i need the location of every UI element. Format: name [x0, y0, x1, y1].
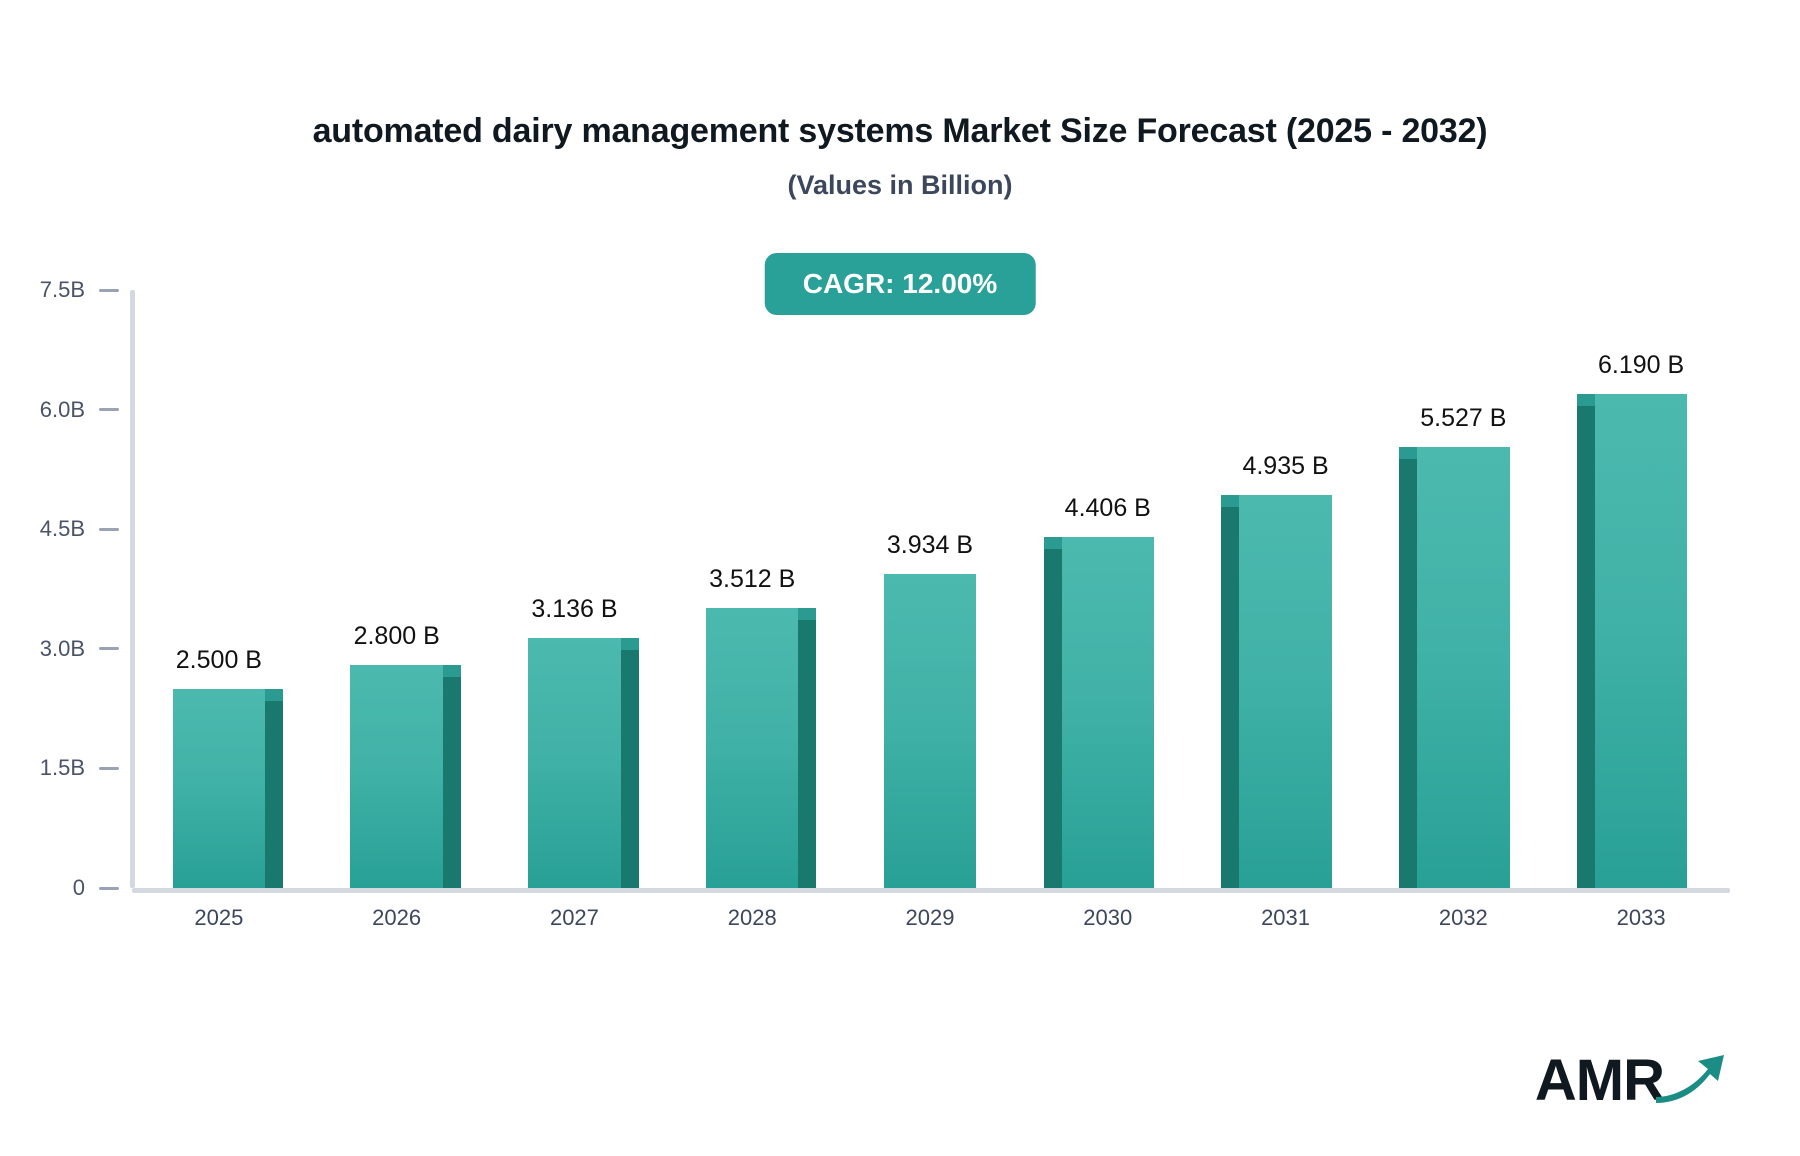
bar-side-face: [798, 618, 816, 888]
chart-canvas: automated dairy management systems Marke…: [0, 0, 1800, 1156]
y-axis-tick-mark: [99, 289, 119, 292]
bar-side-face: [443, 675, 461, 888]
bar-top-bevel: [1577, 394, 1595, 406]
bar-column[interactable]: 4.935 B: [1239, 290, 1331, 888]
y-axis-tick-mark: [99, 887, 119, 890]
bar-front-face: [706, 608, 798, 888]
bar-side-face: [265, 699, 283, 888]
x-axis-label-2032: 2032: [1374, 905, 1552, 931]
bar-value-label: 3.136 B: [531, 595, 617, 624]
bar-side-face: [621, 648, 639, 888]
y-axis-tick-label: 4.5B: [40, 516, 85, 542]
bar-front-face: [1417, 447, 1509, 888]
bar-top-bevel: [798, 608, 816, 620]
bar[interactable]: 6.190 B: [1595, 394, 1687, 888]
bar-value-label: 5.527 B: [1420, 404, 1506, 433]
amr-logo-text: AMR: [1535, 1052, 1664, 1110]
bar-column[interactable]: 4.406 B: [1062, 290, 1154, 888]
y-axis-tick-mark: [99, 647, 119, 650]
x-axis-label-2027: 2027: [486, 905, 664, 931]
bar-column[interactable]: 2.800 B: [350, 290, 442, 888]
bar-column[interactable]: 5.527 B: [1417, 290, 1509, 888]
growth-arrow-icon: [1654, 1047, 1728, 1108]
bar-value-label: 3.512 B: [709, 565, 795, 594]
y-axis-tick-label: 7.5B: [40, 277, 85, 303]
bar-front-face: [1239, 495, 1331, 888]
x-axis-line: [132, 888, 1730, 893]
bar[interactable]: 5.527 B: [1417, 447, 1509, 888]
bar-top-bevel: [443, 665, 461, 677]
bar-column[interactable]: 3.512 B: [706, 290, 798, 888]
bar-front-face: [173, 689, 265, 888]
x-axis-label-2025: 2025: [130, 905, 308, 931]
x-axis-label-2030: 2030: [1019, 905, 1197, 931]
y-axis-tick-mark: [99, 528, 119, 531]
bar-value-label: 4.406 B: [1065, 494, 1151, 523]
bar[interactable]: 3.136 B: [528, 638, 620, 888]
bar-top-bevel: [1221, 495, 1239, 507]
bar-value-label: 3.934 B: [887, 531, 973, 560]
bar-front-face: [1595, 394, 1687, 888]
bar[interactable]: 4.935 B: [1239, 495, 1331, 888]
x-axis-label-2028: 2028: [663, 905, 841, 931]
y-axis-tick-label: 1.5B: [40, 755, 85, 781]
x-axis-label-2029: 2029: [841, 905, 1019, 931]
bar-top-bevel: [1044, 537, 1062, 549]
bar-side-face: [1221, 505, 1239, 888]
chart-subtitle: (Values in Billion): [0, 170, 1800, 201]
bar-value-label: 2.500 B: [176, 646, 262, 675]
bar-value-label: 2.800 B: [354, 622, 440, 651]
y-axis-tick-label: 3.0B: [40, 636, 85, 662]
y-axis-tick-mark: [99, 767, 119, 770]
bar[interactable]: 2.500 B: [173, 689, 265, 888]
bar-front-face: [884, 574, 976, 888]
bar-column[interactable]: 3.136 B: [528, 290, 620, 888]
plot-area: 2.500 B2.800 B3.136 B3.512 B3.934 B4.406…: [130, 290, 1730, 888]
bar-top-bevel: [1399, 447, 1417, 459]
bar-front-face: [528, 638, 620, 888]
bar[interactable]: 3.934 B: [884, 574, 976, 888]
bar[interactable]: 2.800 B: [350, 665, 442, 888]
x-axis-label-2031: 2031: [1197, 905, 1375, 931]
page-title: automated dairy management systems Marke…: [0, 112, 1800, 151]
bar-front-face: [350, 665, 442, 888]
x-axis-label-2033: 2033: [1552, 905, 1730, 931]
amr-logo: AMR: [1535, 1047, 1728, 1114]
bar-side-face: [1577, 404, 1595, 888]
bar-front-face: [1062, 537, 1154, 888]
bar-top-bevel: [621, 638, 639, 650]
bar[interactable]: 4.406 B: [1062, 537, 1154, 888]
bar-side-face: [1399, 457, 1417, 888]
bar-column[interactable]: 3.934 B: [884, 290, 976, 888]
bar-column[interactable]: 2.500 B: [173, 290, 265, 888]
bar-side-face: [1044, 547, 1062, 888]
y-axis-tick-mark: [99, 408, 119, 411]
bar-top-bevel: [265, 689, 283, 701]
x-axis-label-2026: 2026: [308, 905, 486, 931]
bar-value-label: 4.935 B: [1242, 452, 1328, 481]
y-axis-tick-label: 0: [73, 875, 85, 901]
y-axis-tick-label: 6.0B: [40, 397, 85, 423]
bar-value-label: 6.190 B: [1598, 351, 1684, 380]
bar[interactable]: 3.512 B: [706, 608, 798, 888]
bar-column[interactable]: 6.190 B: [1595, 290, 1687, 888]
